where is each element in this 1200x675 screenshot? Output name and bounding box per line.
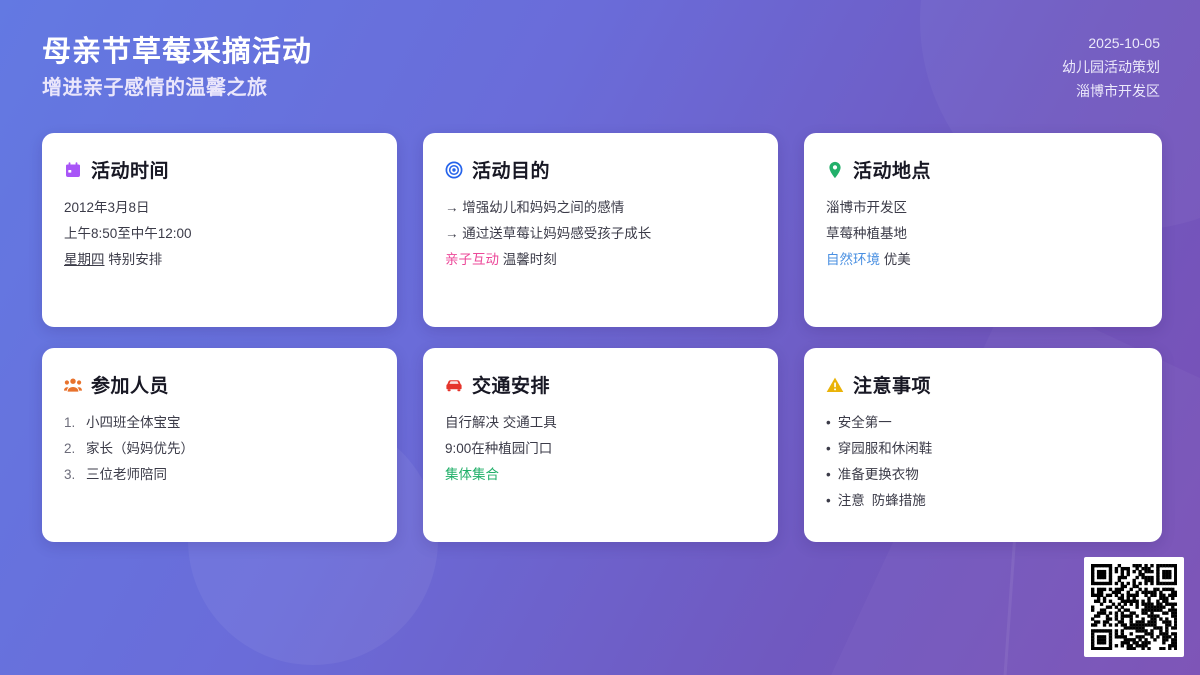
card-line: → 通过送草莓让妈妈感受孩子成长: [445, 226, 756, 243]
list-marker: •: [826, 493, 831, 510]
header-meta: 2025-10-05 幼儿园活动策划 淄博市开发区: [1062, 27, 1160, 102]
card-title: 活动地点: [853, 156, 931, 183]
pin-icon: [826, 161, 844, 179]
page-subtitle: 增进亲子感情的温馨之旅: [42, 77, 312, 100]
info-card: 注意事项•安全第一•穿园服和休闲鞋•准备更换衣物•注意防蜂措施: [804, 348, 1162, 542]
highlight-text: 自然环境: [826, 252, 880, 267]
card-line: 淄博市开发区: [826, 200, 1140, 217]
list-item: •准备更换衣物: [826, 467, 1140, 484]
card-title: 活动时间: [91, 156, 169, 183]
list-item: •注意防蜂措施: [826, 493, 1140, 510]
card-body: •安全第一•穿园服和休闲鞋•准备更换衣物•注意防蜂措施: [826, 415, 1140, 510]
card-line: 亲子互动 温馨时刻: [445, 252, 756, 269]
card-line: 自行解决 交通工具: [445, 415, 756, 432]
car-icon: [445, 376, 463, 394]
info-card: 交通安排自行解决 交通工具9:00在种植园门口集体集合: [423, 348, 778, 542]
card-header: 活动时间: [64, 156, 375, 183]
list-item-label: 小四班全体宝宝: [86, 415, 181, 432]
qr-code[interactable]: [1084, 557, 1184, 657]
target-icon: [445, 161, 463, 179]
card-line: → 增强幼儿和妈妈之间的感情: [445, 200, 756, 217]
list-item-label: 安全第一: [838, 415, 892, 432]
card-title: 参加人员: [91, 371, 169, 398]
warning-icon: [826, 376, 844, 394]
card-body: 1.小四班全体宝宝2.家长（妈妈优先）3.三位老师陪同: [64, 415, 375, 484]
highlight-text: 防蜂措施: [872, 493, 926, 510]
list-marker: •: [826, 467, 831, 484]
card-header: 注意事项: [826, 371, 1140, 398]
line-text: 温馨时刻: [499, 252, 557, 267]
meta-organization: 幼儿园活动策划: [1062, 57, 1160, 77]
list-marker: •: [826, 441, 831, 458]
card-line: 9:00在种植园门口: [445, 441, 756, 458]
card-line: 自然环境 优美: [826, 252, 1140, 269]
title-block: 母亲节草莓采摘活动 增进亲子感情的温馨之旅: [42, 28, 312, 99]
info-card: 活动目的→ 增强幼儿和妈妈之间的感情→ 通过送草莓让妈妈感受孩子成长亲子互动 温…: [423, 133, 778, 327]
meta-date: 2025-10-05: [1088, 33, 1160, 53]
card-header: 参加人员: [64, 371, 375, 398]
card-body: 自行解决 交通工具9:00在种植园门口集体集合: [445, 415, 756, 484]
list-marker: 1.: [64, 415, 79, 432]
list-marker: 3.: [64, 467, 79, 484]
people-icon: [64, 376, 82, 394]
list-marker: •: [826, 415, 831, 432]
card-body: 淄博市开发区草莓种植基地自然环境 优美: [826, 200, 1140, 269]
qr-code-image: [1091, 564, 1177, 650]
list-marker: 2.: [64, 441, 79, 458]
list-item: 2.家长（妈妈优先）: [64, 441, 375, 458]
page-title: 母亲节草莓采摘活动: [42, 36, 312, 69]
list-item-label: 注意: [838, 493, 865, 510]
poster-header: 母亲节草莓采摘活动 增进亲子感情的温馨之旅 2025-10-05 幼儿园活动策划…: [0, 0, 1200, 128]
card-line: 集体集合: [445, 467, 756, 484]
card-line: 上午8:50至中午12:00: [64, 226, 375, 243]
list-item-label: 三位老师陪同: [86, 467, 167, 484]
card-body: → 增强幼儿和妈妈之间的感情→ 通过送草莓让妈妈感受孩子成长亲子互动 温馨时刻: [445, 200, 756, 269]
line-text: 特别安排: [105, 252, 163, 267]
list-item: 3.三位老师陪同: [64, 467, 375, 484]
list-item: •穿园服和休闲鞋: [826, 441, 1140, 458]
info-card: 活动地点淄博市开发区草莓种植基地自然环境 优美: [804, 133, 1162, 327]
card-header: 活动目的: [445, 156, 756, 183]
info-card: 参加人员1.小四班全体宝宝2.家长（妈妈优先）3.三位老师陪同: [42, 348, 397, 542]
card-header: 活动地点: [826, 156, 1140, 183]
list-item: 1.小四班全体宝宝: [64, 415, 375, 432]
card-line: 草莓种植基地: [826, 226, 1140, 243]
list-item-label: 准备更换衣物: [838, 467, 919, 484]
meta-location: 淄博市开发区: [1076, 81, 1160, 101]
highlight-text: 星期四: [64, 252, 105, 267]
poster-root: 母亲节草莓采摘活动 增进亲子感情的温馨之旅 2025-10-05 幼儿园活动策划…: [0, 0, 1200, 675]
card-body: 2012年3月8日上午8:50至中午12:00星期四 特别安排: [64, 200, 375, 269]
line-text: 优美: [880, 252, 911, 267]
list-item: •安全第一: [826, 415, 1140, 432]
card-header: 交通安排: [445, 371, 756, 398]
card-title: 活动目的: [472, 156, 550, 183]
card-title: 交通安排: [472, 371, 550, 398]
list-item-label: 家长（妈妈优先）: [86, 441, 194, 458]
info-card: 活动时间2012年3月8日上午8:50至中午12:00星期四 特别安排: [42, 133, 397, 327]
card-line: 2012年3月8日: [64, 200, 375, 217]
calendar-icon: [64, 161, 82, 179]
card-line: 星期四 特别安排: [64, 252, 375, 269]
card-title: 注意事项: [853, 371, 931, 398]
list-item-label: 穿园服和休闲鞋: [838, 441, 933, 458]
cards-grid: 活动时间2012年3月8日上午8:50至中午12:00星期四 特别安排活动目的→…: [42, 133, 1158, 542]
decorative-diagonal-line: [992, 540, 1016, 675]
highlight-text: 亲子互动: [445, 252, 499, 267]
